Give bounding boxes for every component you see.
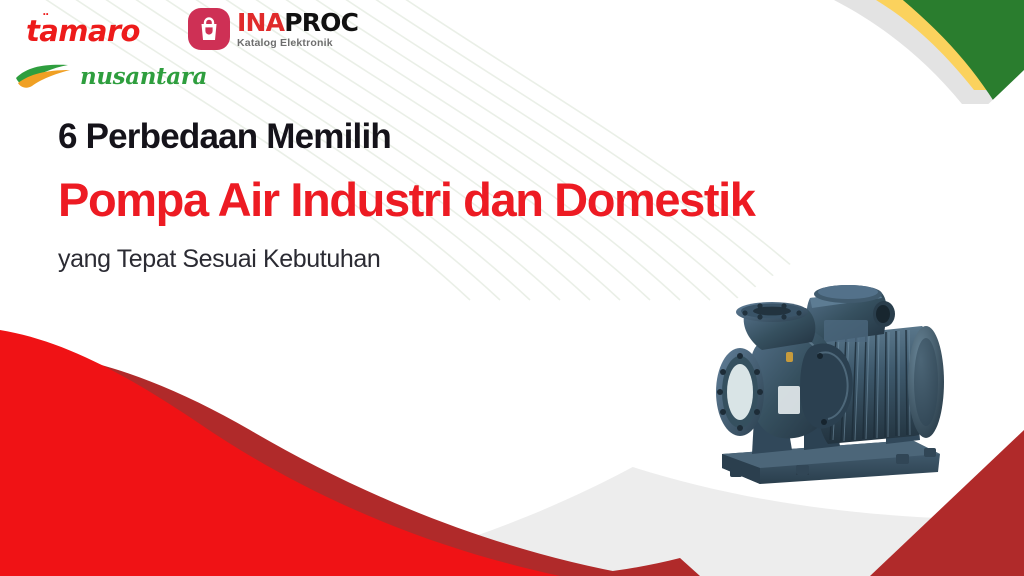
pump-discharge-flange — [716, 348, 764, 436]
shopping-bag-icon — [197, 16, 221, 42]
inaproc-wordmark: INAPROC — [237, 10, 358, 35]
inaproc-ina-text: INA — [237, 8, 284, 37]
industrial-water-pump-image — [700, 268, 962, 500]
headline-block: 6 Perbedaan Memilih Pompa Air Industri d… — [58, 118, 755, 273]
inaproc-tagline: Katalog Elektronik — [237, 38, 358, 49]
pump-label — [778, 386, 800, 414]
tamaro-diacritic-icon: ¨ — [42, 11, 49, 29]
inaproc-text-block: INAPROC Katalog Elektronik — [237, 10, 358, 49]
nusantara-wordmark: nusantara — [80, 63, 207, 90]
nusantara-logo[interactable]: nusantara — [12, 62, 207, 90]
inaproc-logo[interactable]: INAPROC Katalog Elektronik — [188, 8, 358, 50]
inaproc-proc-text: PROC — [284, 8, 358, 37]
swoosh-icon — [12, 62, 78, 90]
promotional-banner: ¨ tamaro INAPROC Katalog Elektronik — [0, 0, 1024, 576]
logo-row: ¨ tamaro INAPROC Katalog Elektronik — [0, 0, 400, 112]
tamaro-logo[interactable]: ¨ tamaro — [26, 14, 140, 48]
page-title: Pompa Air Industri dan Domestik — [58, 175, 755, 226]
subtitle-text: yang Tepat Sesuai Kebutuhan — [58, 246, 755, 274]
eyebrow-text: 6 Perbedaan Memilih — [58, 118, 755, 155]
inaproc-badge — [188, 8, 230, 50]
pump-suction-flange — [736, 302, 815, 350]
